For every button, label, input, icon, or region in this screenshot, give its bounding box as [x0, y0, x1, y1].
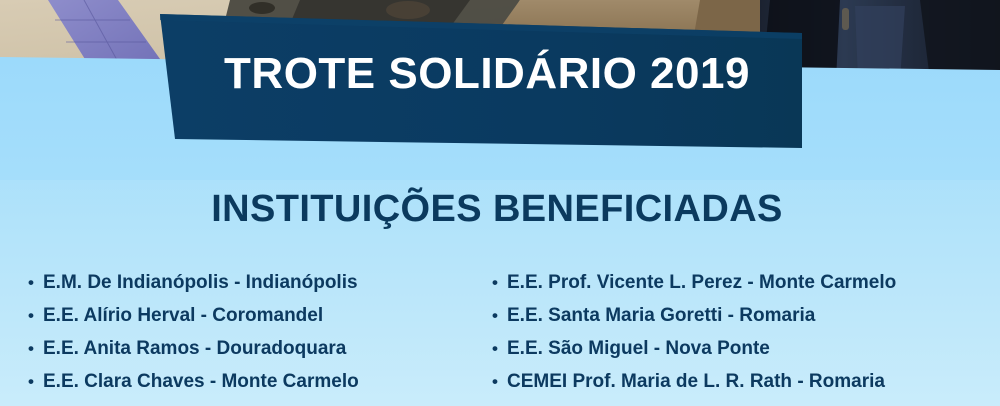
institutions-right-column: • E.E. Prof. Vicente L. Perez - Monte Ca…	[480, 266, 1000, 398]
list-item: • E.M. De Indianópolis - Indianópolis	[28, 266, 480, 299]
institution-name: E.E. Anita Ramos - Douradoquara	[43, 332, 346, 365]
list-item: • E.E. Santa Maria Goretti - Romaria	[492, 299, 1000, 332]
bullet-icon: •	[492, 365, 507, 398]
bullet-icon: •	[28, 266, 43, 299]
list-item: • E.E. São Miguel - Nova Ponte	[492, 332, 1000, 365]
list-item: • E.E. Alírio Herval - Coromandel	[28, 299, 480, 332]
bullet-icon: •	[28, 332, 43, 365]
poster-root: TROTE SOLIDÁRIO 2019 INSTITUIÇÕES BENEFI…	[0, 0, 1000, 406]
section-heading: INSTITUIÇÕES BENEFICIADAS	[0, 190, 997, 228]
list-item: • E.E. Prof. Vicente L. Perez - Monte Ca…	[492, 266, 1000, 299]
bullet-icon: •	[492, 299, 507, 332]
institution-name: E.E. Prof. Vicente L. Perez - Monte Carm…	[507, 266, 896, 299]
list-item: • CEMEI Prof. Maria de L. R. Rath - Roma…	[492, 365, 1000, 398]
institution-name: E.E. Alírio Herval - Coromandel	[43, 299, 323, 332]
bullet-icon: •	[492, 266, 507, 299]
institution-name: E.E. Clara Chaves - Monte Carmelo	[43, 365, 359, 398]
institution-name: CEMEI Prof. Maria de L. R. Rath - Romari…	[507, 365, 885, 398]
list-item: • E.E. Anita Ramos - Douradoquara	[28, 332, 480, 365]
bullet-icon: •	[492, 332, 507, 365]
bullet-icon: •	[28, 299, 43, 332]
list-item: • E.E. Clara Chaves - Monte Carmelo	[28, 365, 480, 398]
institution-name: E.M. De Indianópolis - Indianópolis	[43, 266, 358, 299]
institution-name: E.E. São Miguel - Nova Ponte	[507, 332, 770, 365]
institutions-left-column: • E.M. De Indianópolis - Indianópolis • …	[0, 266, 480, 398]
institution-name: E.E. Santa Maria Goretti - Romaria	[507, 299, 815, 332]
institutions-columns: • E.M. De Indianópolis - Indianópolis • …	[0, 266, 1000, 398]
bullet-icon: •	[28, 365, 43, 398]
poster-main-title: TROTE SOLIDÁRIO 2019	[0, 52, 987, 96]
